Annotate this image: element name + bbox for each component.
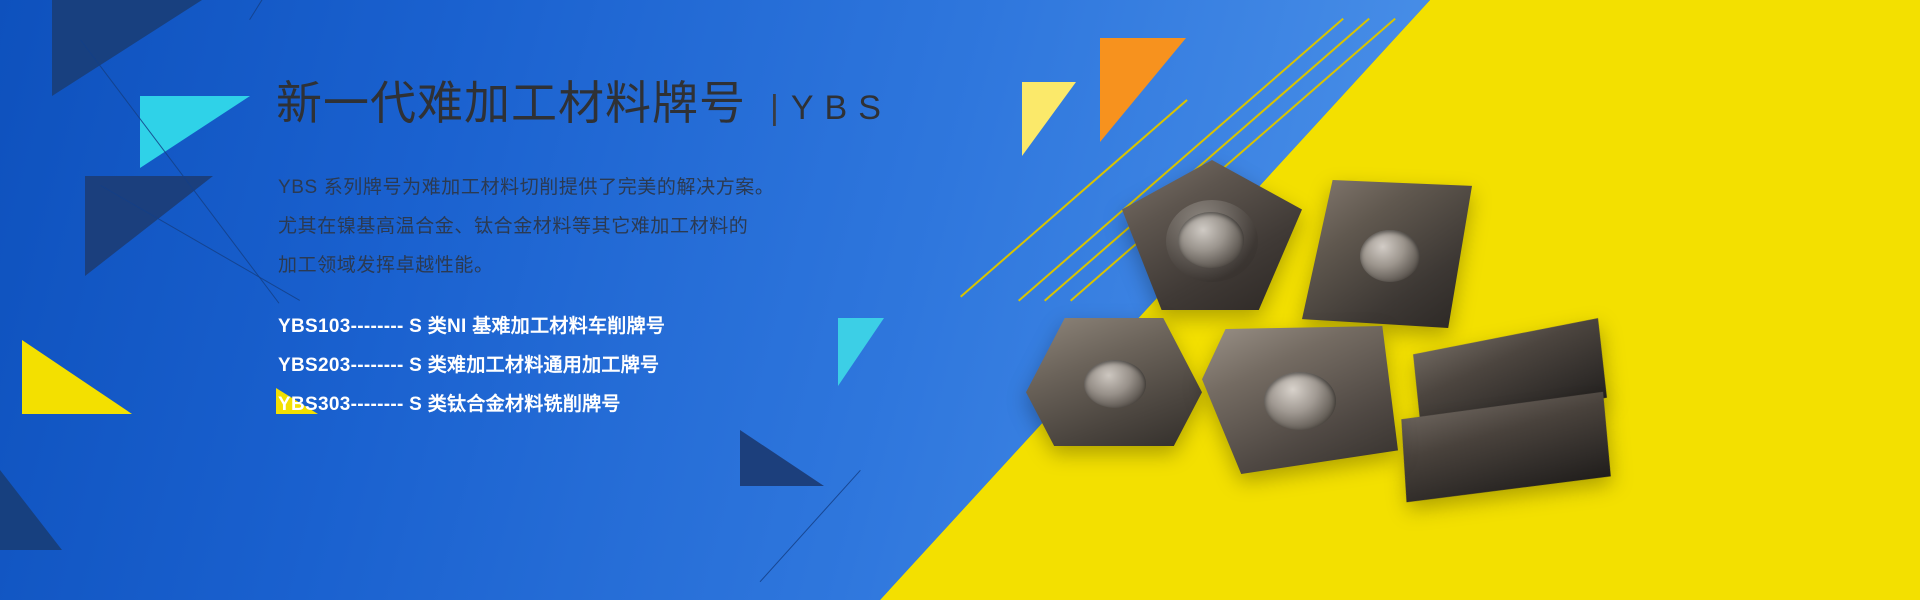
grade-list: YBS103-------- S 类NI 基难加工材料车削牌号 YBS203--… [278, 307, 665, 424]
grade-item-ybs103: YBS103-------- S 类NI 基难加工材料车削牌号 [278, 307, 665, 346]
carbide-insert-trigon-wnmg [1122, 160, 1302, 310]
grade-item-ybs303: YBS303-------- S 类钛合金材料铣削牌号 [278, 385, 665, 424]
triangle-cyan-icon [140, 96, 250, 168]
grade-item-ybs203: YBS203-------- S 类难加工材料通用加工牌号 [278, 346, 665, 385]
product-image-group [990, 150, 1610, 570]
banner-headline: 新一代难加工材料牌号 | YBS [276, 76, 892, 135]
carbide-insert-pentagon [1026, 318, 1202, 446]
carbide-insert-square-milling [1202, 326, 1398, 474]
promo-banner: 新一代难加工材料牌号 | YBS YBS 系列牌号为难加工材料切削提供了完美的解… [0, 0, 1920, 600]
headline-brand-text: YBS [791, 81, 892, 135]
carbide-insert-rhombic-cnmg [1302, 180, 1472, 328]
triangle-navy-icon [52, 0, 202, 96]
headline-main-text: 新一代难加工材料牌号 [276, 76, 746, 130]
description-line: 尤其在镍基高温合金、钛合金材料等其它难加工材料的 [278, 207, 775, 246]
banner-description: YBS 系列牌号为难加工材料切削提供了完美的解决方案。 尤其在镍基高温合金、钛合… [278, 168, 775, 285]
headline-separator: | [770, 81, 779, 135]
description-line: YBS 系列牌号为难加工材料切削提供了完美的解决方案。 [278, 168, 775, 207]
description-line: 加工领域发挥卓越性能。 [278, 246, 775, 285]
triangle-navy-icon [0, 470, 62, 550]
triangle-yellow-icon [22, 340, 132, 414]
